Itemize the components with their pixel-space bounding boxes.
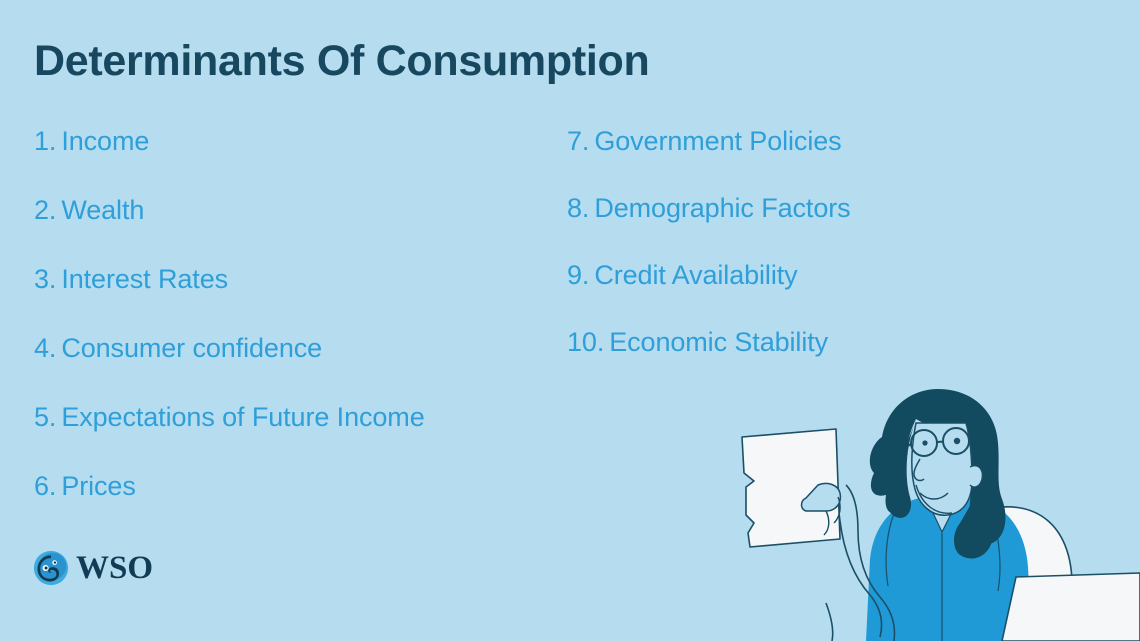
list-item: 2.Wealth: [34, 197, 425, 224]
list-column-left: 1.Income 2.Wealth 3.Interest Rates 4.Con…: [34, 128, 425, 542]
list-item-label: Expectations of Future Income: [61, 402, 424, 432]
list-item-label: Wealth: [61, 195, 144, 225]
list-item-number: 1.: [34, 126, 56, 156]
wso-globe-icon: [33, 550, 69, 586]
page-title: Determinants Of Consumption: [34, 38, 649, 85]
woman-holding-paper-illustration: [720, 381, 1140, 641]
list-item-number: 4.: [34, 333, 56, 363]
list-item-label: Consumer confidence: [61, 333, 322, 363]
list-item-label: Interest Rates: [61, 264, 228, 294]
list-item-number: 3.: [34, 264, 56, 294]
list-item-label: Economic Stability: [609, 327, 828, 357]
list-item: 4.Consumer confidence: [34, 335, 425, 362]
list-item-number: 2.: [34, 195, 56, 225]
laptop-shape: [1002, 573, 1140, 641]
list-item: 8.Demographic Factors: [567, 195, 851, 222]
list-item-label: Government Policies: [594, 126, 841, 156]
list-item: 7.Government Policies: [567, 128, 851, 155]
list-item-label: Income: [61, 126, 149, 156]
list-item-number: 9.: [567, 260, 589, 290]
list-item-number: 7.: [567, 126, 589, 156]
list-item-number: 5.: [34, 402, 56, 432]
list-item: 10.Economic Stability: [567, 329, 851, 356]
list-item-number: 10.: [567, 327, 604, 357]
list-item: 3.Interest Rates: [34, 266, 425, 293]
slide-canvas: Determinants Of Consumption 1.Income 2.W…: [0, 0, 1140, 641]
list-item: 9.Credit Availability: [567, 262, 851, 289]
list-item-label: Demographic Factors: [594, 193, 850, 223]
list-item: 5.Expectations of Future Income: [34, 404, 425, 431]
list-item-number: 8.: [567, 193, 589, 223]
list-item-label: Prices: [61, 471, 135, 501]
paper-document: [742, 429, 840, 547]
wso-logo[interactable]: WSO: [33, 550, 153, 586]
list-item: 6.Prices: [34, 473, 425, 500]
list-item-label: Credit Availability: [594, 260, 797, 290]
list-item-number: 6.: [34, 471, 56, 501]
wso-logo-text: WSO: [76, 552, 153, 585]
list-column-right: 7.Government Policies 8.Demographic Fact…: [567, 128, 851, 396]
list-item: 1.Income: [34, 128, 425, 155]
